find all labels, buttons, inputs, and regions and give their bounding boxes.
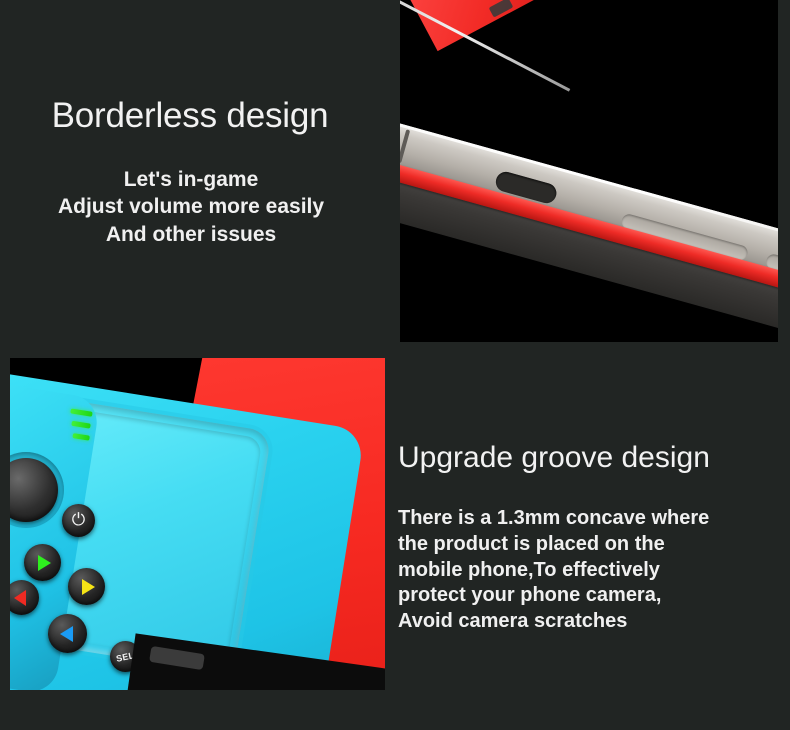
upgrade-body-line-3: mobile phone,To effectively (398, 558, 790, 584)
upgrade-body-line-5: Avoid camera scratches (398, 609, 790, 635)
arrow-right-icon (38, 555, 51, 571)
led-indicator-bar (72, 433, 90, 441)
borderless-headline: Borderless design (0, 98, 380, 135)
blue-arrow-button[interactable] (48, 614, 87, 653)
upgrade-body-text: There is a 1.3mm concave where the produ… (398, 506, 790, 635)
borderless-body-line-1: Let's in-game (0, 166, 382, 193)
borderless-design-text-panel: Borderless design Let's in-game Adjust v… (0, 0, 392, 345)
controller-groove-photo: ⏻ SEL (10, 358, 385, 690)
red-case-corner (400, 0, 570, 51)
upgrade-groove-text-panel: Upgrade groove design There is a 1.3mm c… (398, 430, 790, 690)
borderless-body-line-2: Adjust volume more easily (0, 193, 382, 220)
arrow-left-icon (14, 590, 26, 606)
upgrade-body-line-4: protect your phone camera, (398, 583, 790, 609)
frame-antenna-line (400, 129, 410, 163)
arrow-left-icon (60, 626, 73, 642)
phone-body-group (400, 121, 778, 342)
product-feature-page: Borderless design Let's in-game Adjust v… (0, 0, 790, 730)
power-icon: ⏻ (72, 512, 85, 529)
yellow-arrow-button[interactable] (68, 568, 105, 605)
arrow-right-icon (82, 579, 95, 595)
borderless-body-text: Let's in-game Adjust volume more easily … (0, 166, 382, 248)
borderless-body-line-3: And other issues (0, 221, 382, 248)
upgrade-body-line-2: the product is placed on the (398, 532, 790, 558)
power-button[interactable]: ⏻ (62, 504, 95, 537)
upgrade-headline: Upgrade groove design (398, 442, 790, 474)
led-indicator-bar (71, 421, 91, 429)
green-arrow-button[interactable] (24, 544, 61, 581)
phone-edge-photo (400, 0, 778, 342)
upgrade-body-line-1: There is a 1.3mm concave where (398, 506, 790, 532)
